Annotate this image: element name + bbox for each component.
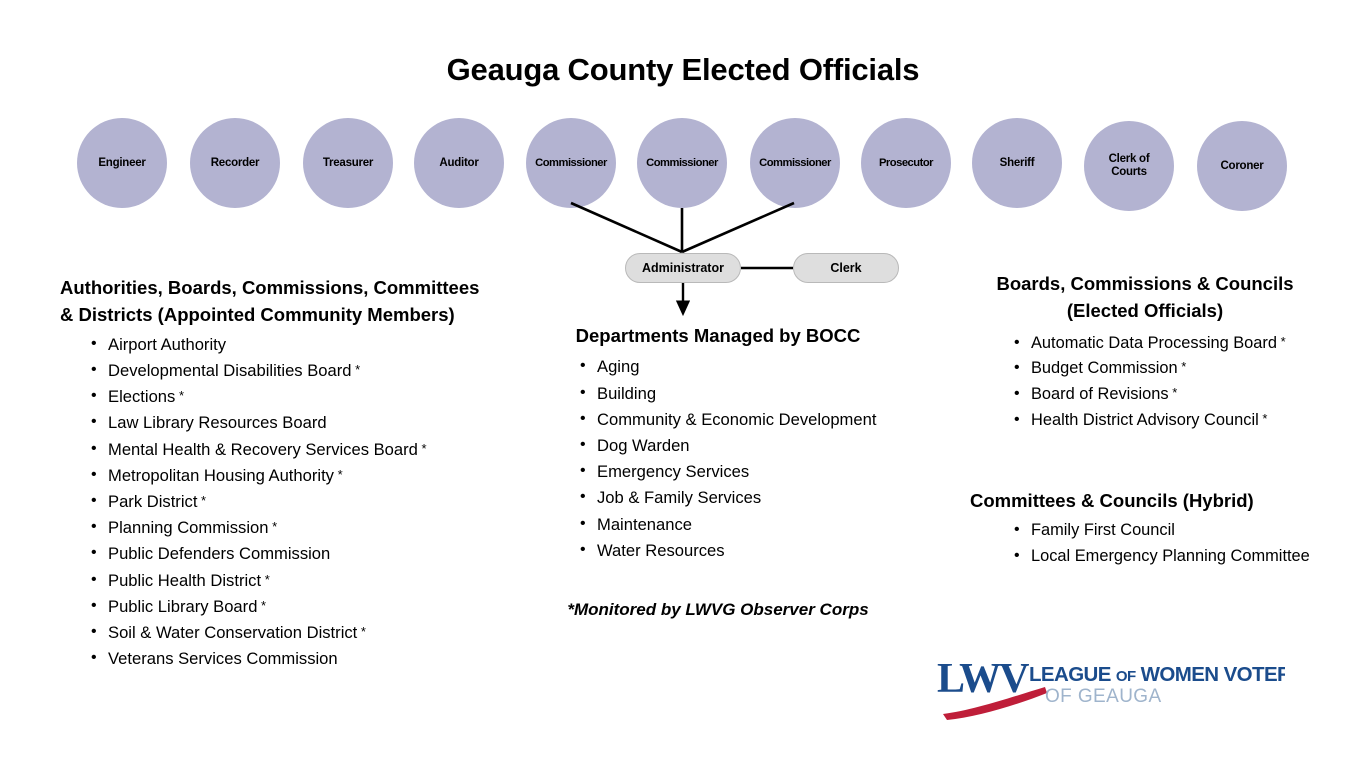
list-item-label: Budget Commission: [1031, 359, 1178, 377]
monitored-asterisk: *: [334, 467, 343, 482]
official-circle-clerk-of-courts-9[interactable]: Clerk of Courts: [1084, 121, 1174, 211]
list-item: Building: [576, 381, 928, 407]
monitored-asterisk: *: [1169, 385, 1178, 400]
node-administrator-label: Administrator: [642, 261, 724, 275]
list-item-label: Board of Revisions: [1031, 385, 1169, 403]
right-column-hybrid-list: Family First CouncilLocal Emergency Plan…: [1010, 518, 1330, 569]
official-circle-label: Commissioner: [645, 157, 719, 170]
list-item: Soil & Water Conservation District *: [87, 620, 530, 646]
list-item: Mental Health & Recovery Services Board …: [87, 437, 530, 463]
slide-canvas: Geauga County Elected Officials Engineer…: [0, 0, 1366, 768]
list-item-label: Public Library Board: [108, 597, 257, 616]
list-item-label: Law Library Resources Board: [108, 413, 327, 432]
monitored-asterisk: *: [197, 493, 206, 508]
list-item: Airport Authority: [87, 332, 530, 358]
left-column-list: Airport AuthorityDevelopmental Disabilit…: [87, 332, 530, 673]
list-item-label: Building: [597, 384, 656, 403]
list-item: Automatic Data Processing Board *: [1010, 331, 1330, 357]
right-column: Boards, Commissions & Councils (Elected …: [960, 270, 1330, 433]
official-circle-sheriff-8[interactable]: Sheriff: [972, 118, 1062, 208]
list-item-label: Aging: [597, 357, 639, 376]
monitored-asterisk: *: [418, 441, 427, 456]
list-item-label: Park District: [108, 492, 197, 511]
monitored-asterisk: *: [1178, 359, 1187, 374]
list-item: Metropolitan Housing Authority *: [87, 463, 530, 489]
list-item: Public Defenders Commission: [87, 541, 530, 567]
right-column-hybrid-heading: Committees & Councils (Hybrid): [960, 487, 1330, 514]
list-item-label: Airport Authority: [108, 335, 226, 354]
list-item-label: Community & Economic Development: [597, 410, 876, 429]
list-item-label: Water Resources: [597, 541, 725, 560]
official-circle-label: Commissioner: [534, 157, 608, 170]
list-item: Veterans Services Commission: [87, 646, 530, 672]
list-item: Developmental Disabilities Board *: [87, 358, 530, 384]
list-item-label: Maintenance: [597, 515, 692, 534]
official-circle-label: Commissioner: [758, 157, 832, 170]
list-item-label: Family First Council: [1031, 521, 1175, 539]
list-item-label: Dog Warden: [597, 436, 690, 455]
list-item: Board of Revisions *: [1010, 382, 1330, 408]
official-circle-coroner-10[interactable]: Coroner: [1197, 121, 1287, 211]
monitored-asterisk: *: [1277, 334, 1286, 349]
list-item-label: Emergency Services: [597, 462, 749, 481]
left-column-heading: Authorities, Boards, Commissions, Commit…: [60, 274, 530, 329]
official-circle-engineer-0[interactable]: Engineer: [77, 118, 167, 208]
official-circle-prosecutor-7[interactable]: Prosecutor: [861, 118, 951, 208]
list-item: Dog Warden: [576, 433, 928, 459]
logo-line1: LEAGUE OF WOMEN VOTERS®: [1029, 663, 1285, 686]
list-item: Elections *: [87, 384, 530, 410]
monitored-asterisk: *: [1259, 411, 1268, 426]
official-circle-label: Recorder: [210, 157, 261, 170]
monitored-asterisk: *: [268, 519, 277, 534]
list-item-label: Metropolitan Housing Authority: [108, 466, 334, 485]
official-circle-commissioner-5[interactable]: Commissioner: [637, 118, 727, 208]
official-circle-label: Prosecutor: [878, 157, 934, 170]
list-item: Job & Family Services: [576, 485, 928, 511]
center-column-heading: Departments Managed by BOCC: [508, 322, 928, 349]
list-item-label: Job & Family Services: [597, 488, 761, 507]
official-circle-label: Engineer: [97, 157, 146, 170]
list-item: Local Emergency Planning Committee: [1010, 544, 1330, 570]
logo-mark: LWV: [937, 656, 1029, 702]
list-item: Community & Economic Development: [576, 407, 928, 433]
list-item-label: Automatic Data Processing Board: [1031, 334, 1277, 352]
list-item-label: Veterans Services Commission: [108, 649, 338, 668]
list-item: Maintenance: [576, 512, 928, 538]
node-clerk-label: Clerk: [830, 261, 861, 275]
official-circle-treasurer-2[interactable]: Treasurer: [303, 118, 393, 208]
list-item: Public Library Board *: [87, 594, 530, 620]
official-circle-label: Coroner: [1220, 160, 1265, 173]
list-item: Water Resources: [576, 538, 928, 564]
official-circle-label: Auditor: [438, 157, 479, 170]
right-column-heading-line2: (Elected Officials): [960, 297, 1330, 324]
monitored-asterisk: *: [175, 388, 184, 403]
list-item: Health District Advisory Council *: [1010, 408, 1330, 434]
center-column: Departments Managed by BOCC AgingBuildin…: [508, 322, 928, 564]
node-clerk[interactable]: Clerk: [793, 253, 899, 283]
official-circle-auditor-3[interactable]: Auditor: [414, 118, 504, 208]
monitored-asterisk: *: [261, 572, 270, 587]
left-column-heading-line1: Authorities, Boards, Commissions, Commit…: [60, 274, 530, 301]
list-item-label: Soil & Water Conservation District: [108, 623, 357, 642]
elected-officials-row: EngineerRecorderTreasurerAuditorCommissi…: [0, 118, 1366, 214]
list-item-label: Developmental Disabilities Board: [108, 361, 352, 380]
official-circle-commissioner-4[interactable]: Commissioner: [526, 118, 616, 208]
list-item: Planning Commission *: [87, 515, 530, 541]
list-item: Park District *: [87, 489, 530, 515]
monitored-asterisk: *: [352, 362, 361, 377]
list-item-label: Public Health District: [108, 571, 261, 590]
list-item: Public Health District *: [87, 568, 530, 594]
list-item: Emergency Services: [576, 459, 928, 485]
left-column: Authorities, Boards, Commissions, Commit…: [60, 274, 530, 672]
footnote-monitored: *Monitored by LWVG Observer Corps: [508, 600, 928, 620]
official-circle-recorder-1[interactable]: Recorder: [190, 118, 280, 208]
right-column-hybrid: Committees & Councils (Hybrid) Family Fi…: [960, 487, 1330, 570]
logo-line2: OF GEAUGA: [1045, 686, 1162, 707]
left-column-heading-line2: & Districts (Appointed Community Members…: [60, 301, 530, 328]
right-column-list: Automatic Data Processing Board *Budget …: [1010, 331, 1330, 433]
official-circle-commissioner-6[interactable]: Commissioner: [750, 118, 840, 208]
right-column-heading-line1: Boards, Commissions & Councils: [960, 270, 1330, 297]
list-item-label: Public Defenders Commission: [108, 544, 330, 563]
list-item: Family First Council: [1010, 518, 1330, 544]
official-circle-label: Clerk of Courts: [1108, 153, 1151, 179]
list-item-label: Planning Commission: [108, 518, 268, 537]
list-item: Aging: [576, 354, 928, 380]
official-circle-label: Sheriff: [999, 157, 1036, 170]
list-item: Budget Commission *: [1010, 356, 1330, 382]
list-item-label: Local Emergency Planning Committee: [1031, 547, 1310, 565]
list-item-label: Elections: [108, 387, 175, 406]
monitored-asterisk: *: [357, 624, 366, 639]
center-column-list: AgingBuildingCommunity & Economic Develo…: [576, 354, 928, 564]
official-circle-label: Treasurer: [322, 157, 374, 170]
list-item-label: Mental Health & Recovery Services Board: [108, 440, 418, 459]
monitored-asterisk: *: [257, 598, 266, 613]
node-administrator[interactable]: Administrator: [625, 253, 741, 283]
list-item: Law Library Resources Board: [87, 410, 530, 436]
lwv-geauga-logo: LWV LEAGUE OF WOMEN VOTERS® OF GEAUGA: [935, 650, 1285, 722]
page-title: Geauga County Elected Officials: [0, 52, 1366, 88]
list-item-label: Health District Advisory Council: [1031, 411, 1259, 429]
right-column-heading: Boards, Commissions & Councils (Elected …: [960, 270, 1330, 325]
